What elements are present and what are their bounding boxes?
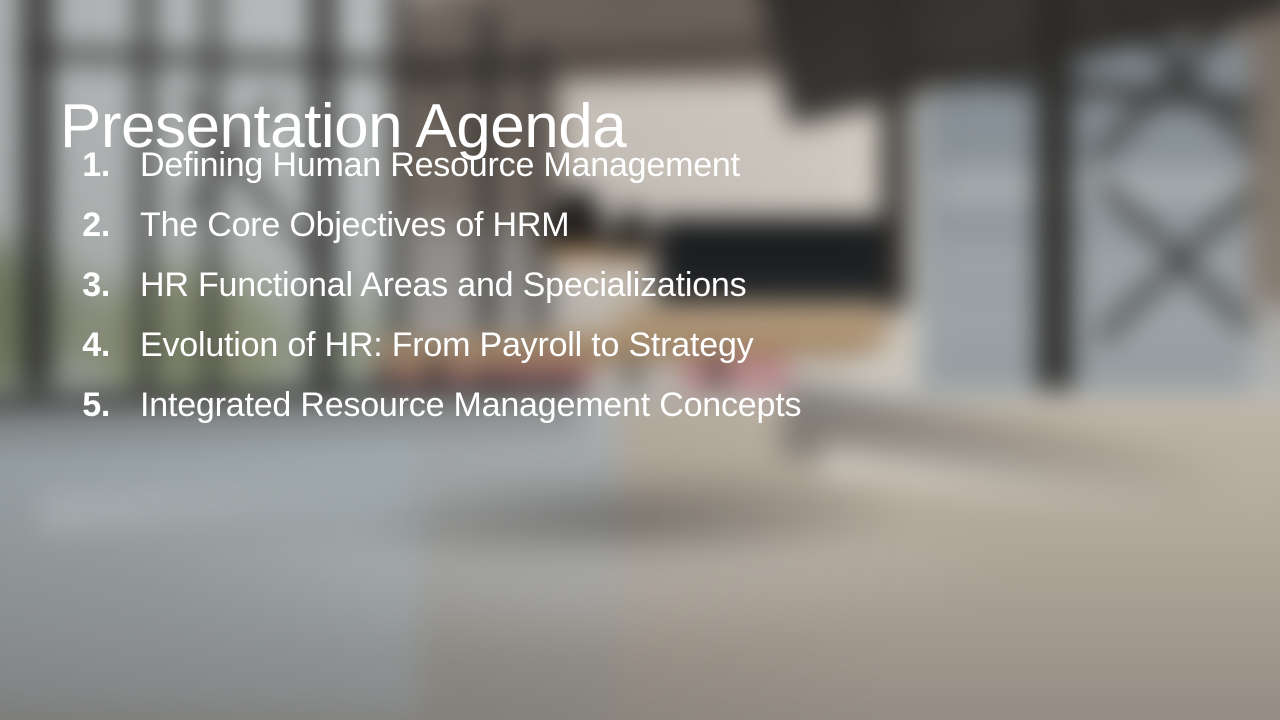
agenda-item-number: 4. (0, 326, 110, 365)
agenda-item-number: 5. (0, 386, 110, 425)
presentation-slide: Presentation Agenda 1.Defining Human Res… (0, 0, 1280, 720)
agenda-item-number: 3. (0, 266, 110, 305)
agenda-item: 1.Defining Human Resource Management (0, 146, 1280, 206)
agenda-item-label: HR Functional Areas and Specializations (140, 266, 746, 305)
agenda-item-label: Integrated Resource Management Concepts (140, 386, 801, 425)
agenda-item-number: 2. (0, 206, 110, 245)
slide-content: Presentation Agenda 1.Defining Human Res… (0, 0, 1280, 720)
agenda-item-number: 1. (0, 146, 110, 185)
agenda-item: 4.Evolution of HR: From Payroll to Strat… (0, 326, 1280, 386)
agenda-item: 2.The Core Objectives of HRM (0, 206, 1280, 266)
agenda-item-label: The Core Objectives of HRM (140, 206, 569, 245)
agenda-item: 3.HR Functional Areas and Specialization… (0, 266, 1280, 326)
agenda-list: 1.Defining Human Resource Management2.Th… (0, 146, 1280, 446)
agenda-item-label: Evolution of HR: From Payroll to Strateg… (140, 326, 753, 365)
agenda-item-label: Defining Human Resource Management (140, 146, 740, 185)
agenda-item: 5.Integrated Resource Management Concept… (0, 386, 1280, 446)
